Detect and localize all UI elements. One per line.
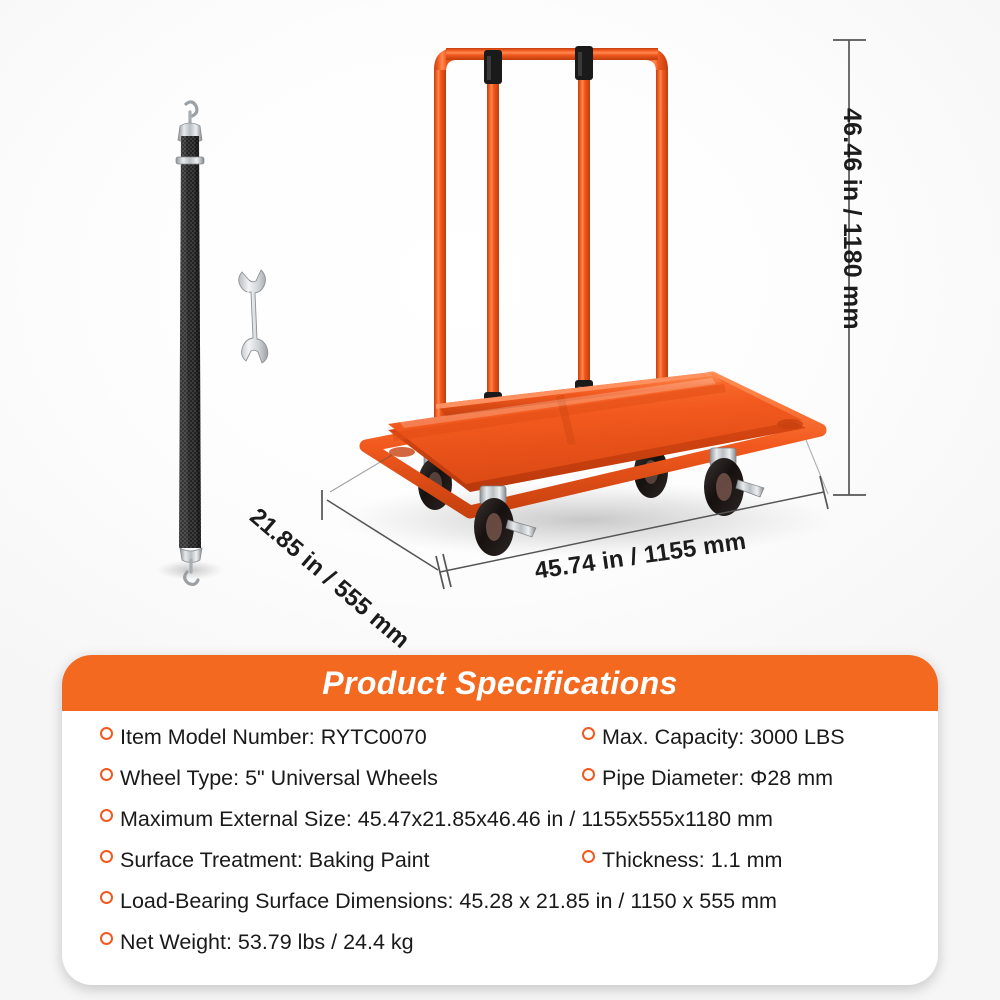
- product-spec-page: 46.46 in / 1180 mm 45.74 in / 1155 mm 21…: [0, 0, 1000, 1000]
- deck-handle-slot: [777, 419, 803, 429]
- upright-inner-left: [487, 54, 499, 426]
- spec-item-text: Load-Bearing Surface Dimensions: 45.28 x…: [120, 889, 777, 914]
- bullet-icon: [582, 850, 595, 863]
- spec-card-body: Item Model Number: RYTC0070 Max. Capacit…: [62, 711, 938, 985]
- bullet-icon: [100, 727, 113, 740]
- spec-item-text: Surface Treatment: Baking Paint: [120, 848, 430, 873]
- dimension-label-height: 46.46 in / 1180 mm: [837, 108, 866, 330]
- spec-row: Maximum External Size: 45.47x21.85x46.46…: [62, 807, 938, 848]
- spec-row: Load-Bearing Surface Dimensions: 45.28 x…: [62, 889, 938, 930]
- spec-item-text: Thickness: 1.1 mm: [602, 848, 782, 873]
- spec-card-header: Product Specifications: [62, 655, 938, 711]
- bullet-icon: [582, 727, 595, 740]
- spec-item-text: Wheel Type: 5" Universal Wheels: [120, 766, 438, 791]
- spec-row: Net Weight: 53.79 lbs / 24.4 kg: [62, 930, 938, 971]
- product-specifications-card: Product Specifications Item Model Number…: [62, 655, 938, 985]
- clamp-top-left: [484, 50, 502, 84]
- spec-card-title: Product Specifications: [322, 665, 678, 702]
- upright-inner-right: [578, 54, 590, 414]
- spec-item-surface-treatment: Surface Treatment: Baking Paint: [100, 848, 430, 873]
- open-end-wrench: [239, 270, 268, 363]
- strap-buckle: [176, 157, 204, 164]
- spec-item-text: Item Model Number: RYTC0070: [120, 725, 427, 750]
- spec-item-text: Pipe Diameter: Φ28 mm: [602, 766, 833, 791]
- bullet-icon: [100, 891, 113, 904]
- spec-item-text: Net Weight: 53.79 lbs / 24.4 kg: [120, 930, 414, 955]
- clamp-top-right: [575, 46, 593, 80]
- spec-row: Surface Treatment: Baking Paint Thicknes…: [62, 848, 938, 889]
- spec-item-text: Max. Capacity: 3000 LBS: [602, 725, 845, 750]
- bullet-icon: [100, 809, 113, 822]
- cart-backrest-frame: [434, 46, 668, 434]
- tie-down-strap: [176, 102, 204, 585]
- product-scene: 46.46 in / 1180 mm 45.74 in / 1155 mm 21…: [0, 0, 1000, 655]
- bullet-icon: [582, 768, 595, 781]
- spec-row: Item Model Number: RYTC0070 Max. Capacit…: [62, 725, 938, 766]
- bullet-icon: [100, 768, 113, 781]
- spec-row: Wheel Type: 5" Universal Wheels Pipe Dia…: [62, 766, 938, 807]
- drywall-panel-cart: [366, 46, 820, 556]
- spec-item-net-weight: Net Weight: 53.79 lbs / 24.4 kg: [100, 930, 414, 955]
- bullet-icon: [100, 932, 113, 945]
- bullet-icon: [100, 850, 113, 863]
- spec-item-model-number: Item Model Number: RYTC0070: [100, 725, 427, 750]
- spec-item-text: Maximum External Size: 45.47x21.85x46.46…: [120, 807, 773, 832]
- spec-item-maximum-external-size: Maximum External Size: 45.47x21.85x46.46…: [100, 807, 773, 832]
- spec-item-thickness: Thickness: 1.1 mm: [582, 848, 782, 873]
- spec-item-max-capacity: Max. Capacity: 3000 LBS: [582, 725, 845, 750]
- spec-item-load-bearing-surface: Load-Bearing Surface Dimensions: 45.28 x…: [100, 889, 777, 914]
- spec-item-pipe-diameter: Pipe Diameter: Φ28 mm: [582, 766, 833, 791]
- spec-item-wheel-type: Wheel Type: 5" Universal Wheels: [100, 766, 438, 791]
